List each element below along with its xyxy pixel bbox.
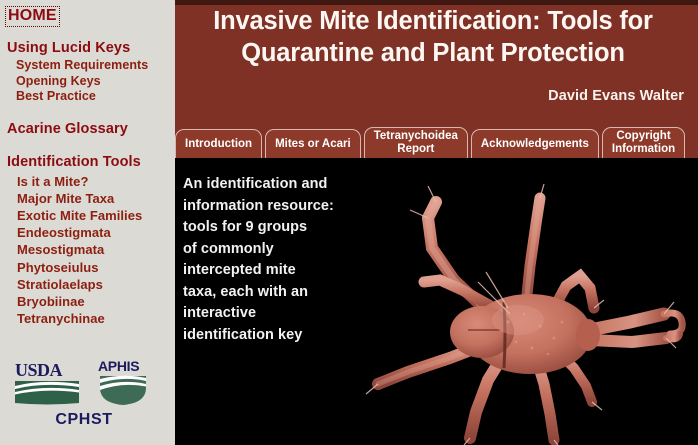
cphst-label: CPHST (0, 411, 168, 429)
sidebar-item-endeostigmata[interactable]: Endeostigmata (17, 224, 168, 241)
tab-acknowledgements[interactable]: Acknowledgements (471, 129, 599, 158)
page-header-banner: Invasive Mite Identification: Tools for … (168, 0, 698, 120)
page-author: David Evans Walter (548, 88, 684, 104)
aphis-logo: APHIS (93, 356, 153, 406)
sidebar-item-acarine-glossary[interactable]: Acarine Glossary (7, 120, 168, 138)
tab-copyright-information[interactable]: Copyright Information (602, 127, 685, 158)
page-root: HOME Using Lucid Keys System Requirement… (0, 0, 698, 445)
sidebar-navigation: HOME Using Lucid Keys System Requirement… (0, 0, 168, 445)
sidebar-heading-identification-tools[interactable]: Identification Tools (7, 153, 168, 171)
sidebar-item-major-mite-taxa[interactable]: Major Mite Taxa (17, 190, 168, 207)
sidebar-sublist-identification-tools: Is it a Mite? Major Mite Taxa Exotic Mit… (7, 173, 168, 328)
usda-logo: USDA (13, 359, 81, 405)
sidebar-item-is-it-a-mite[interactable]: Is it a Mite? (17, 173, 168, 190)
sidebar-content-divider (168, 0, 175, 445)
sidebar-item-stratiolaelaps[interactable]: Stratiolaelaps (17, 276, 168, 293)
agency-logos: USDA APHIS CPHST (0, 353, 168, 445)
tab-bar: Introduction Mites or Acari Tetranychoid… (168, 120, 698, 162)
sidebar-heading-using-lucid-keys[interactable]: Using Lucid Keys (7, 39, 168, 57)
sidebar-item-system-requirements[interactable]: System Requirements (16, 58, 168, 74)
sidebar-section-identification-tools: Identification Tools Is it a Mite? Major… (0, 153, 168, 328)
sidebar-item-mesostigmata[interactable]: Mesostigmata (17, 241, 168, 258)
logo-row: USDA APHIS (0, 353, 168, 411)
tab-introduction[interactable]: Introduction (175, 129, 262, 158)
tab-list: Introduction Mites or Acari Tetranychoid… (175, 125, 688, 158)
svg-text:APHIS: APHIS (98, 358, 139, 374)
sidebar-item-best-practice[interactable]: Best Practice (16, 89, 168, 105)
content-area: An identification and information resour… (168, 162, 698, 445)
sidebar-item-home[interactable]: HOME (6, 7, 59, 26)
sidebar-item-opening-keys[interactable]: Opening Keys (16, 74, 168, 90)
sidebar-sublist-using-lucid-keys: System Requirements Opening Keys Best Pr… (7, 58, 168, 105)
mite-illustration (358, 162, 698, 445)
intro-blurb: An identification and information resour… (183, 174, 373, 346)
sidebar-section-using-lucid-keys: Using Lucid Keys System Requirements Ope… (0, 39, 168, 105)
sidebar-item-bryobiinae[interactable]: Bryobiinae (17, 293, 168, 310)
sidebar-section-acarine-glossary: Acarine Glossary (0, 120, 168, 138)
home-link-wrapper: HOME (0, 4, 168, 26)
tab-mites-or-acari[interactable]: Mites or Acari (265, 129, 361, 158)
tab-tetranychoidea-report[interactable]: Tetranychoidea Report (364, 127, 468, 158)
sidebar-item-tetranychinae[interactable]: Tetranychinae (17, 310, 168, 327)
svg-text:USDA: USDA (15, 360, 63, 380)
page-title: Invasive Mite Identification: Tools for … (168, 5, 698, 69)
sidebar-item-phytoseiulus[interactable]: Phytoseiulus (17, 259, 168, 276)
mite-micrograph-image (358, 162, 698, 445)
sidebar-item-exotic-mite-families[interactable]: Exotic Mite Families (17, 207, 168, 224)
main-panel: Invasive Mite Identification: Tools for … (168, 0, 698, 445)
